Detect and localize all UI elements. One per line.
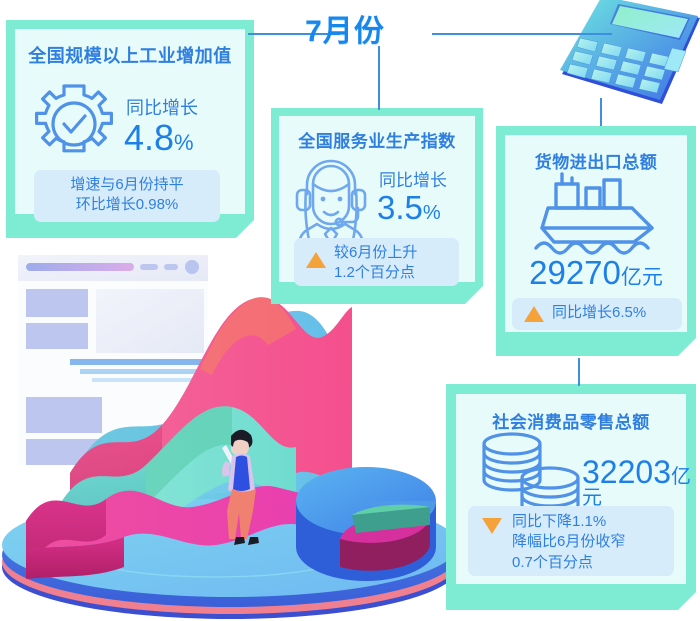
isometric-data-platform-illustration bbox=[0, 249, 460, 621]
card-title-industry: 全国规模以上工业增加值 bbox=[6, 42, 254, 68]
card-industry[interactable]: 全国规模以上工业增加值 同比增长 4.8% 增速与6月份持平 环比增长0.98% bbox=[6, 20, 254, 238]
retail-note-line3: 0.7个百分点 bbox=[512, 553, 668, 573]
calculator-illustration bbox=[554, 0, 700, 114]
industry-note-line2: 环比增长0.98% bbox=[34, 195, 220, 215]
trade-unit: 亿元 bbox=[621, 266, 663, 289]
card-title-services: 全国服务业生产指数 bbox=[271, 127, 483, 152]
industry-value: 4.8 bbox=[124, 117, 174, 158]
arrow-down-icon bbox=[482, 518, 502, 534]
gear-check-icon bbox=[28, 78, 120, 170]
arrow-up-icon bbox=[524, 306, 544, 322]
card-trade[interactable]: 货物进出口总额 29270亿元 同比增长6.5% bbox=[496, 126, 696, 356]
trade-note-line1: 同比增长6.5% bbox=[552, 303, 682, 323]
services-note-line2: 1.2个百分点 bbox=[334, 263, 453, 283]
industry-note-line1: 增速与6月份持平 bbox=[34, 175, 220, 195]
retail-note: 同比下降1.1% 降幅比6月份收窄 0.7个百分点 bbox=[468, 506, 674, 576]
connector-line-services-drop bbox=[378, 46, 380, 110]
infographic-canvas: 7月份 全国规模以上工业增加值 同比增长 4.8% 增速与6月份持平 环比增长0… bbox=[0, 0, 700, 621]
card-services[interactable]: 全国服务业生产指数 bbox=[271, 108, 483, 304]
page-title: 7月份 bbox=[305, 6, 385, 50]
connector-line-trade-drop bbox=[600, 98, 602, 126]
services-yoy-label: 同比增长 bbox=[379, 171, 447, 191]
trade-note: 同比增长6.5% bbox=[512, 298, 682, 330]
arrow-up-icon bbox=[306, 252, 326, 268]
headset-agent-icon bbox=[287, 150, 375, 246]
services-unit: % bbox=[423, 202, 441, 224]
services-value: 3.5 bbox=[377, 189, 423, 226]
card-title-trade: 货物进出口总额 bbox=[496, 148, 696, 173]
cargo-ship-icon bbox=[520, 172, 672, 258]
services-note-line1: 较6月份上升 bbox=[334, 243, 453, 263]
services-note: 较6月份上升 1.2个百分点 bbox=[294, 238, 459, 286]
trade-value: 29270 bbox=[529, 254, 621, 291]
retail-note-line2: 降幅比6月份收窄 bbox=[512, 532, 668, 552]
card-retail[interactable]: 社会消费品零售总额 32203亿元 bbox=[446, 384, 696, 610]
industry-yoy-label: 同比增长 bbox=[126, 98, 198, 119]
retail-note-line1: 同比下降1.1% bbox=[512, 512, 668, 532]
retail-value: 32203 bbox=[582, 454, 671, 490]
connector-line-retail-drop bbox=[578, 358, 580, 386]
industry-unit: % bbox=[174, 130, 194, 155]
industry-note: 增速与6月份持平 环比增长0.98% bbox=[34, 170, 220, 222]
connector-line-right bbox=[432, 33, 612, 35]
